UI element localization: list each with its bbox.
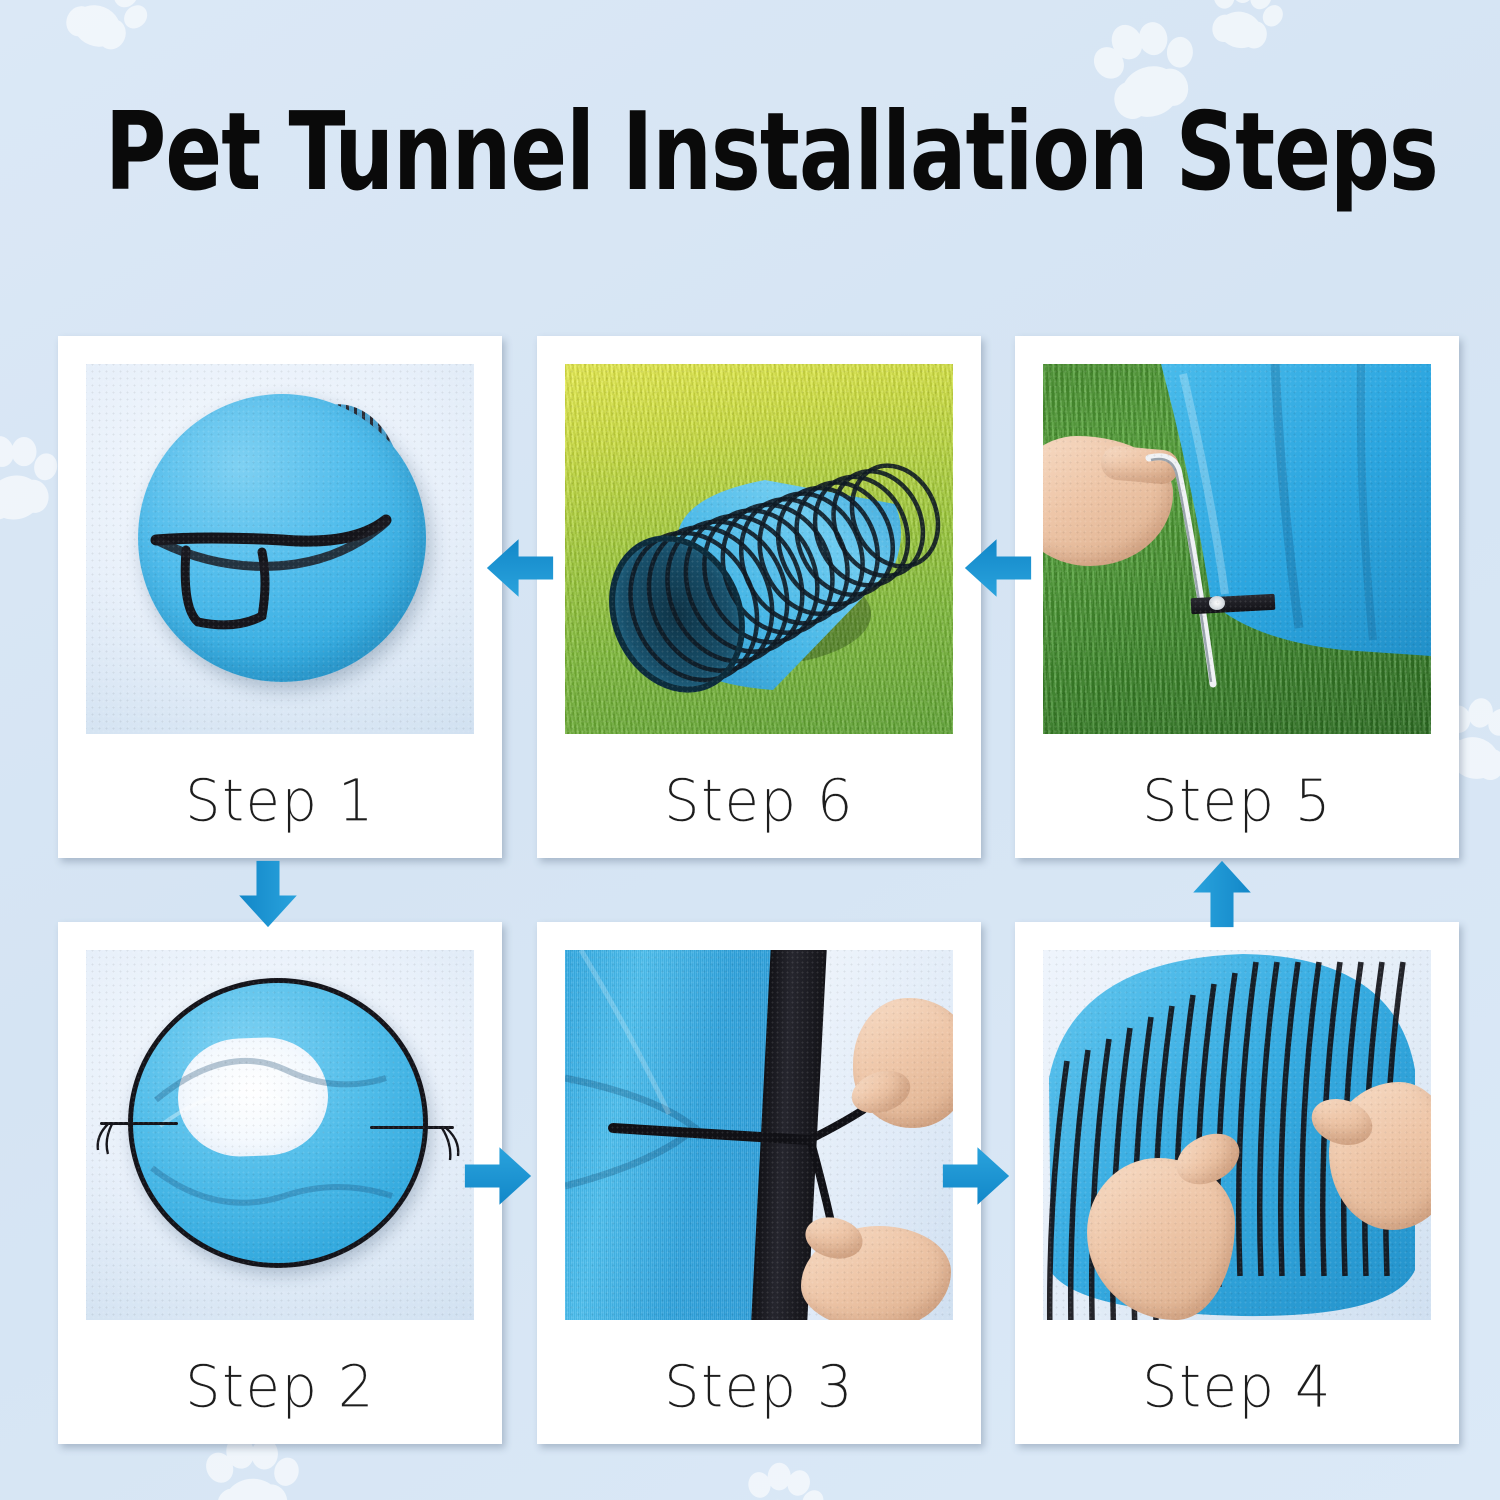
step-caption-text: Step 3 (664, 1354, 854, 1422)
arrow-glyph (462, 1140, 534, 1212)
step-caption-step-2: Step 2 (58, 1355, 502, 1420)
ground-stake (1043, 364, 1431, 734)
step-card-step-3[interactable]: Step 3 (537, 922, 981, 1444)
step-card-step-2[interactable]: Step 2 (58, 922, 502, 1444)
step-caption-step-1: Step 1 (58, 769, 502, 834)
step-caption-text: Step 5 (1142, 768, 1332, 836)
tie-cord-ends (86, 950, 474, 1320)
step-caption-step-4: Step 4 (1015, 1355, 1459, 1420)
page-title-container: Pet Tunnel Installation Steps (0, 96, 1500, 209)
step-photo-step-6 (565, 364, 953, 734)
assembled-tunnel (565, 364, 953, 734)
step-photo-step-3 (565, 950, 953, 1320)
step-photo-step-1 (86, 364, 474, 734)
step-caption-step-6: Step 6 (537, 769, 981, 834)
arrow-left-icon (962, 532, 1034, 609)
arrow-right-icon (462, 1140, 534, 1217)
step-caption-text: Step 6 (664, 768, 854, 836)
arrow-up-icon (1186, 858, 1258, 935)
page-title: Pet Tunnel Installation Steps (105, 96, 1395, 209)
arrow-down-icon (232, 858, 304, 935)
arrow-glyph (1186, 858, 1258, 930)
step-caption-step-5: Step 5 (1015, 769, 1459, 834)
step-photo-step-2 (86, 950, 474, 1320)
carry-handle (86, 364, 474, 734)
arrow-glyph (940, 1140, 1012, 1212)
arrow-left-icon (484, 532, 556, 609)
arrow-glyph (484, 532, 556, 604)
step-caption-text: Step 1 (185, 768, 375, 836)
step-photo-step-5 (1043, 364, 1431, 734)
step-caption-text: Step 2 (185, 1354, 375, 1422)
arrow-glyph (962, 532, 1034, 604)
step-caption-step-3: Step 3 (537, 1355, 981, 1420)
step-card-step-5[interactable]: Step 5 (1015, 336, 1459, 858)
strap-grommet (1209, 596, 1225, 610)
step-card-step-6[interactable]: Step 6 (537, 336, 981, 858)
step-caption-text: Step 4 (1142, 1354, 1332, 1422)
arrow-right-icon (940, 1140, 1012, 1217)
arrow-glyph (232, 858, 304, 930)
step-card-step-1[interactable]: Step 1 (58, 336, 502, 858)
steps-grid: Step 1 Step 6 (0, 0, 1500, 1500)
step-photo-step-4 (1043, 950, 1431, 1320)
step-card-step-4[interactable]: Step 4 (1015, 922, 1459, 1444)
